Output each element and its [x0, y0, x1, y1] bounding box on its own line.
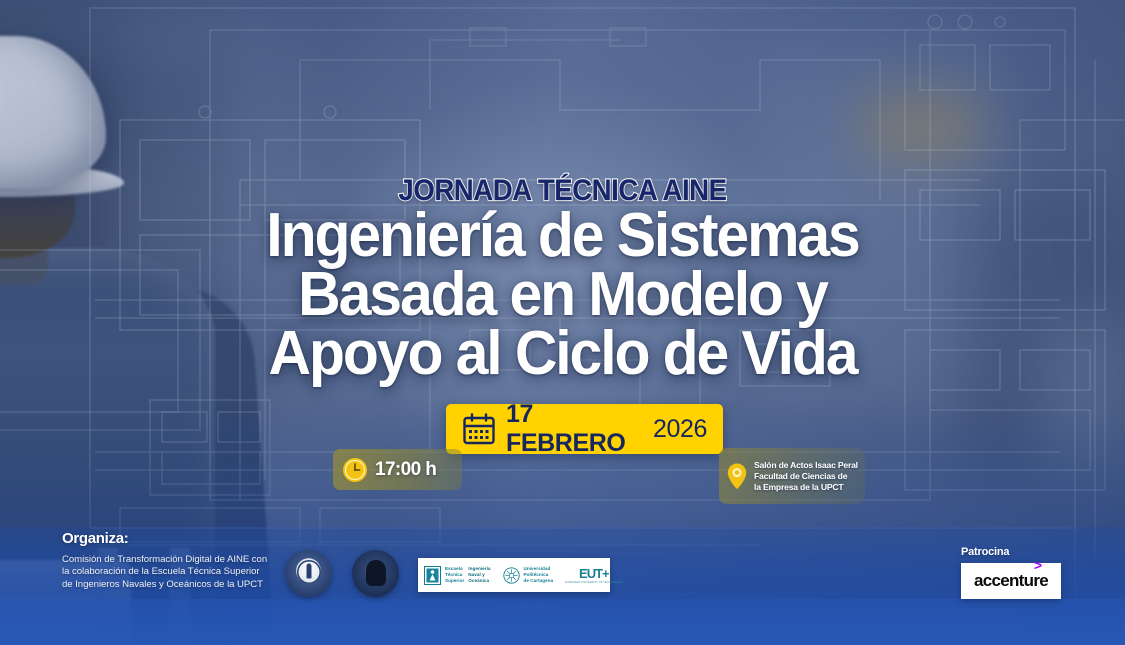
- accenture-arrow-icon: >: [1034, 560, 1042, 570]
- accenture-sponsor-logo: accenture >: [961, 563, 1061, 599]
- location-badge: Salón de Actos Isaac Peral Facultad de C…: [719, 448, 865, 504]
- eut-subtitle: EUROPEAN UNIVERSITY OF TECHNOLOGY: [565, 581, 622, 584]
- upct-text: Universidad Politécnica de Cartagena: [524, 566, 554, 584]
- map-pin-icon: [726, 462, 748, 490]
- location-line-3: la Empresa de la UPCT: [754, 482, 858, 493]
- accenture-wordmark: accenture: [974, 571, 1048, 590]
- upct-l3: de Cartagena: [524, 578, 554, 584]
- location-line-2: Facultad de Ciencias de: [754, 471, 858, 482]
- etsi-c2-l3: Oceánica: [468, 578, 490, 584]
- organiza-line-2: la colaboración de la Escuela Técnica Su…: [62, 566, 267, 578]
- title-line-1: Ingeniería de Sistemas: [28, 206, 1097, 265]
- page-title: Ingeniería de Sistemas Basada en Modelo …: [28, 206, 1097, 383]
- etsi-logo: Escuela Técnica Superior Ingeniería Nava…: [418, 558, 497, 592]
- calendar-icon: [462, 413, 496, 445]
- eut-logo: EUT+ EUROPEAN UNIVERSITY OF TECHNOLOGY: [559, 558, 628, 592]
- organiza-line-1: Comisión de Transformación Digital de AI…: [62, 554, 267, 566]
- title-line-3: Apoyo al Ciclo de Vida: [28, 324, 1097, 383]
- date-badge: 17 FEBRERO 2026: [446, 404, 723, 454]
- upct-mark-icon: [503, 566, 520, 585]
- organiza-heading: Organiza:: [62, 530, 128, 547]
- clock-icon: [342, 457, 368, 483]
- etsi-c1-l3: Superior: [445, 578, 464, 584]
- etsi-mark-icon: [424, 566, 441, 585]
- etsi-col1-text: Escuela Técnica Superior: [445, 566, 464, 584]
- eut-mark-text: EUT+: [579, 567, 609, 580]
- aine-seal-logo: [285, 550, 332, 597]
- time-value: 17:00 h: [375, 459, 436, 481]
- date-day-month: 17 FEBRERO: [506, 400, 645, 458]
- institutional-logo-bar: Escuela Técnica Superior Ingeniería Nava…: [418, 558, 610, 592]
- time-badge: 17:00 h: [333, 449, 462, 490]
- organiza-line-3: de Ingenieros Navales y Oceánicos de la …: [62, 579, 267, 591]
- patrocina-heading: Patrocina: [961, 546, 1009, 558]
- etsinno-seal-logo: [352, 550, 399, 597]
- event-poster: JORNADA TÉCNICA AINE Ingeniería de Siste…: [0, 0, 1125, 645]
- etsi-col2-text: Ingeniería Naval y Oceánica: [468, 566, 490, 584]
- location-line-1: Salón de Actos Isaac Peral: [754, 460, 858, 471]
- date-year: 2026: [653, 415, 707, 444]
- upct-logo: Universidad Politécnica de Cartagena: [497, 558, 560, 592]
- organiza-description: Comisión de Transformación Digital de AI…: [62, 554, 267, 591]
- location-text: Salón de Actos Isaac Peral Facultad de C…: [754, 460, 858, 493]
- title-line-2: Basada en Modelo y: [28, 265, 1097, 324]
